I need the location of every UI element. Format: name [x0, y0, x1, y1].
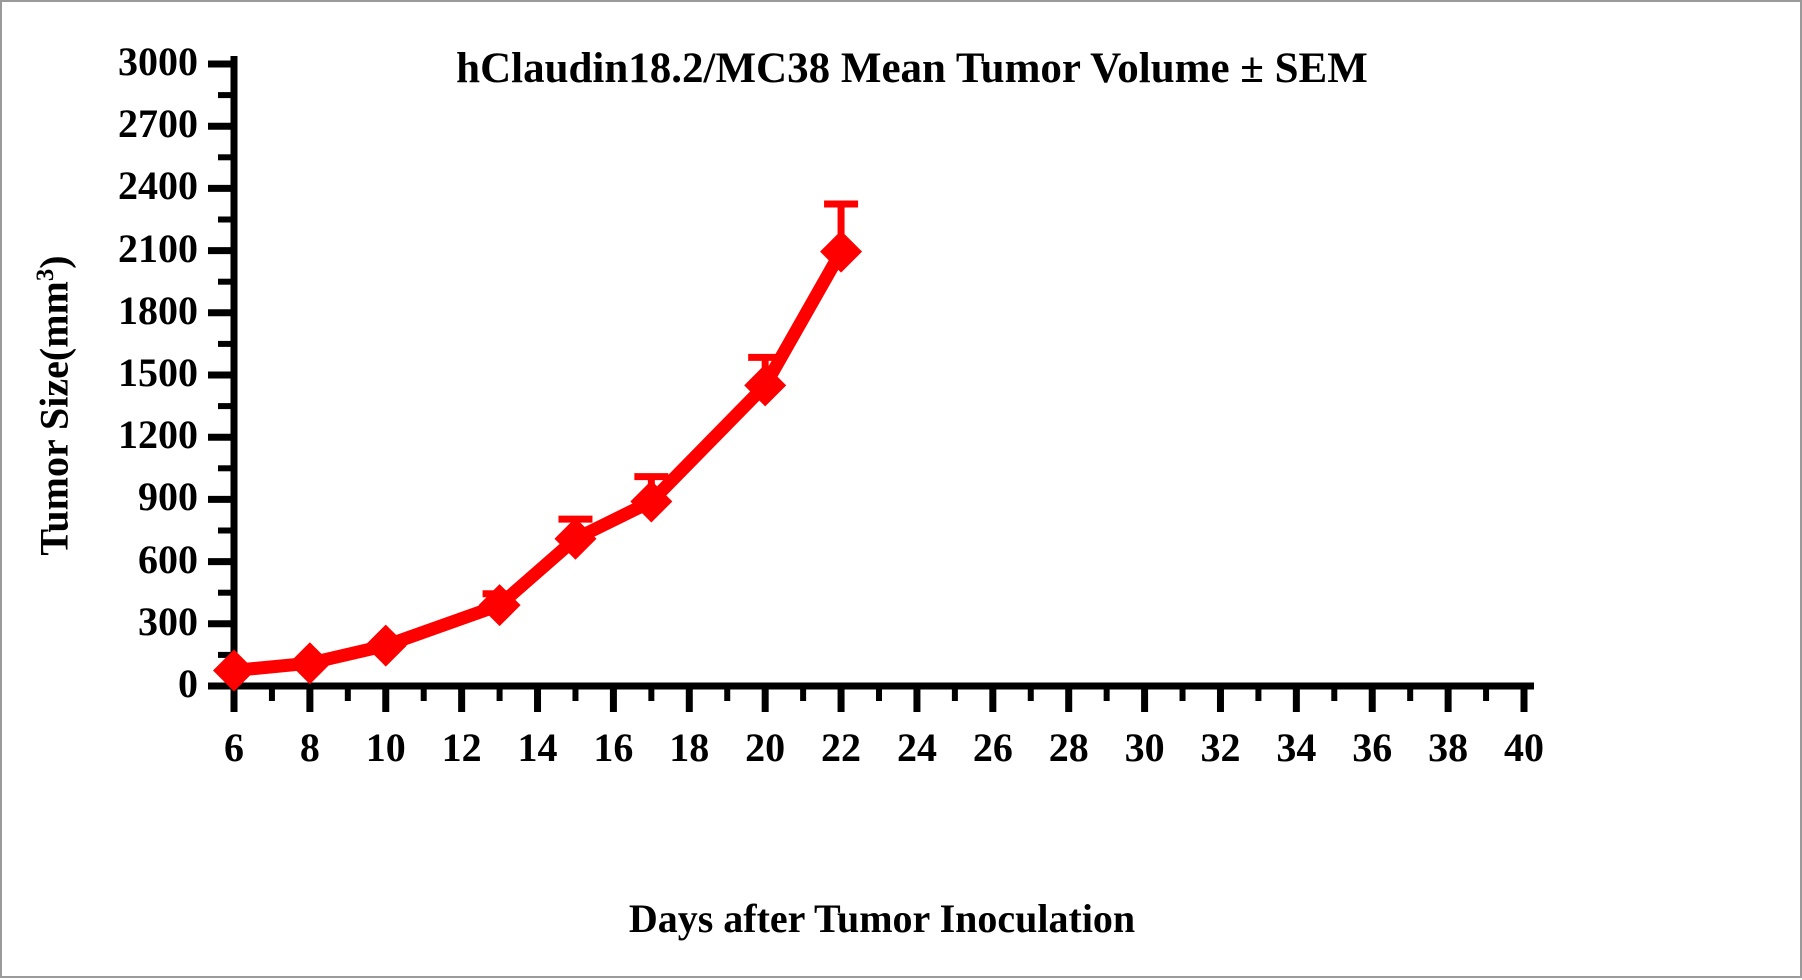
x-tick-label-text: 38	[1428, 724, 1468, 771]
x-tick-label-text: 32	[1200, 724, 1240, 771]
x-tick-label-group: 6810121416182022242628303234363840	[2, 2, 1802, 980]
x-tick-label-text: 16	[593, 724, 633, 771]
x-tick-label-text: 14	[518, 724, 558, 771]
x-tick-label-text: 12	[442, 724, 482, 771]
chart-figure: hClaudin18.2/MC38 Mean Tumor Volume ± SE…	[0, 0, 1802, 978]
x-tick-label-text: 20	[745, 724, 785, 771]
x-tick-label-text: 6	[224, 724, 244, 771]
x-tick-label-text: 34	[1276, 724, 1316, 771]
x-tick-label-text: 24	[897, 724, 937, 771]
x-tick-label-text: 22	[821, 724, 861, 771]
x-tick-label-text: 8	[300, 724, 320, 771]
x-tick-label-text: 36	[1352, 724, 1392, 771]
x-tick-label-text: 18	[669, 724, 709, 771]
x-tick-label-text: 26	[973, 724, 1013, 771]
x-tick-label-text: 40	[1504, 724, 1544, 771]
x-tick-label-text: 10	[366, 724, 406, 771]
x-tick-label-text: 28	[1049, 724, 1089, 771]
x-tick-label-text: 30	[1125, 724, 1165, 771]
